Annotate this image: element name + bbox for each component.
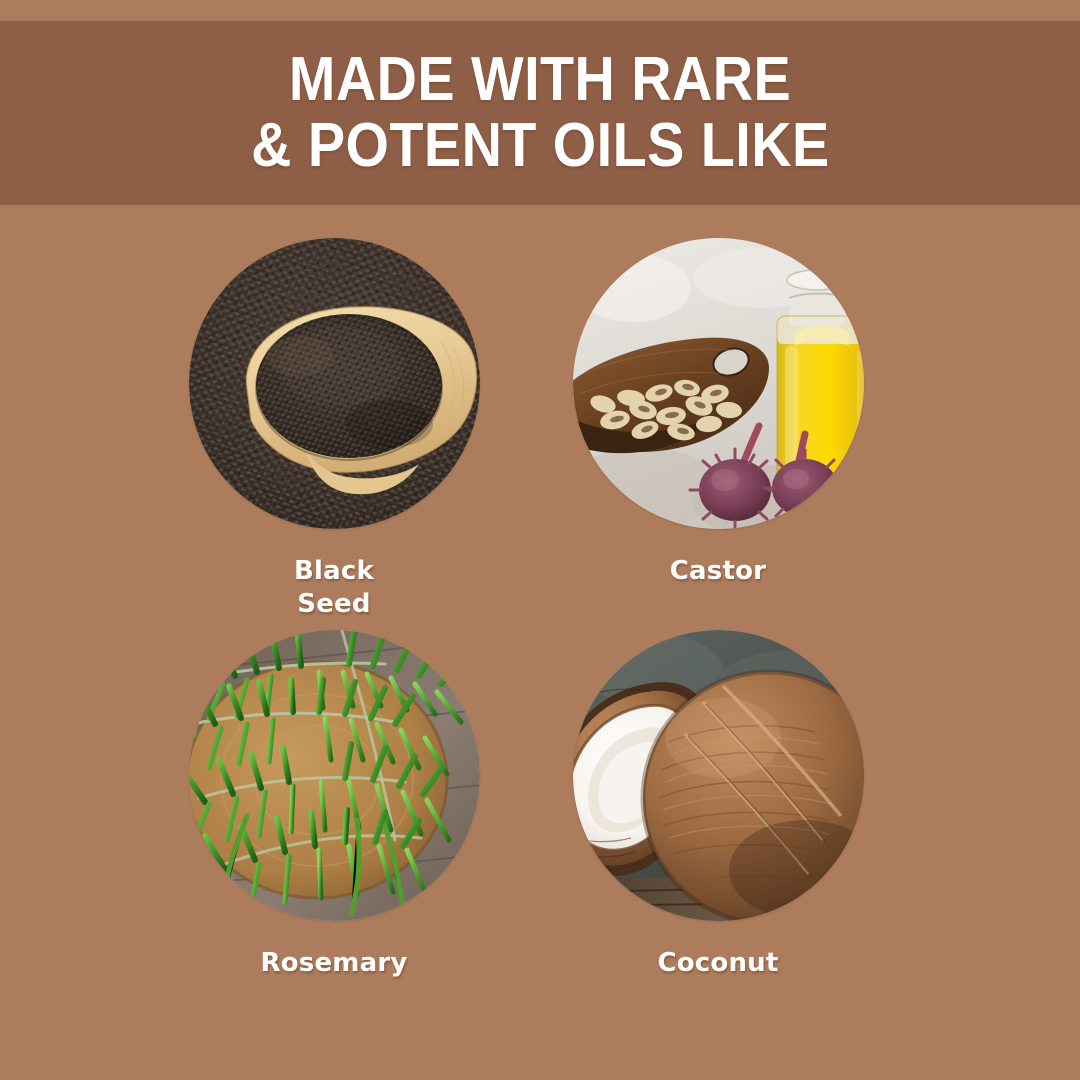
- ingredient-label-coconut: Coconut: [657, 947, 778, 980]
- rosemary-photo: [189, 630, 480, 921]
- black-seed-photo: [189, 238, 480, 529]
- ingredient-card-coconut[interactable]: Coconut: [448, 630, 988, 980]
- ingredient-card-castor[interactable]: Castor: [448, 238, 988, 588]
- headline-line-1: MADE WITH RARE: [289, 47, 791, 113]
- headline-line-2: & POTENT OILS LIKE: [251, 113, 830, 179]
- coconut-photo: [573, 630, 864, 921]
- ingredient-label-black-seed: Black Seed: [294, 555, 374, 621]
- ingredient-grid: Black Seed: [0, 205, 1080, 1080]
- ingredient-label-rosemary: Rosemary: [261, 947, 408, 980]
- ingredient-poster: MADE WITH RARE & POTENT OILS LIKE: [0, 0, 1080, 1080]
- header-band: MADE WITH RARE & POTENT OILS LIKE: [0, 21, 1080, 205]
- ingredient-label-castor: Castor: [670, 555, 766, 588]
- label-line-1: Castor: [670, 555, 766, 588]
- label-line-1: Coconut: [657, 947, 778, 980]
- label-line-2: Seed: [294, 588, 374, 621]
- label-line-1: Black: [294, 555, 374, 588]
- castor-photo: [573, 238, 864, 529]
- label-line-1: Rosemary: [261, 947, 408, 980]
